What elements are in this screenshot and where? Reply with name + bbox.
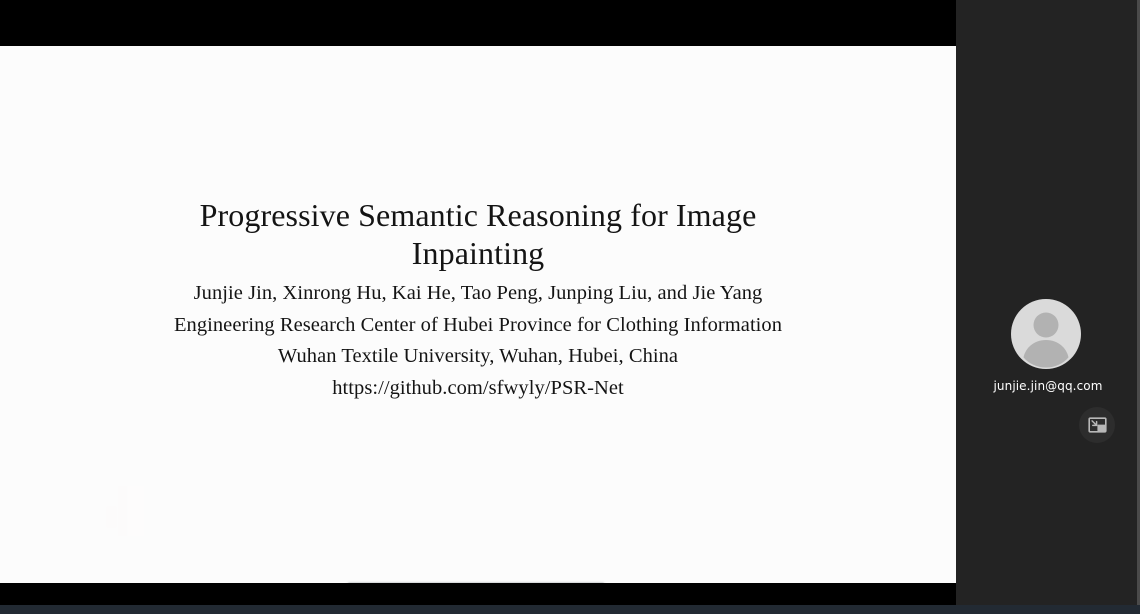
letterbox-bottom-bar — [0, 583, 956, 605]
paper-repository-url: https://github.com/sfwyly/PSR-Net — [0, 373, 956, 405]
person-avatar-icon — [1011, 299, 1081, 369]
picture-in-picture-icon[interactable] — [1079, 407, 1115, 443]
shared-screen-viewer[interactable]: Progressive Semantic Reasoning for Image… — [0, 0, 956, 605]
participant-tile[interactable]: junjie.jin@qq.com — [956, 0, 1140, 605]
slide-artifact — [118, 486, 144, 536]
participant-name-label: junjie.jin@qq.com — [956, 379, 1140, 393]
paper-institution: Wuhan Textile University, Wuhan, Hubei, … — [0, 341, 956, 373]
paper-authors: Junjie Jin, Xinrong Hu, Kai He, Tao Peng… — [0, 278, 956, 310]
presentation-slide: Progressive Semantic Reasoning for Image… — [0, 46, 956, 583]
page-title: Progressive Semantic Reasoning for Image… — [158, 196, 798, 272]
participant-panel: junjie.jin@qq.com — [956, 0, 1140, 605]
slide-content: Progressive Semantic Reasoning for Image… — [0, 196, 956, 404]
paper-affiliation: Engineering Research Center of Hubei Pro… — [0, 310, 956, 342]
app-bottom-strip — [0, 605, 1140, 614]
